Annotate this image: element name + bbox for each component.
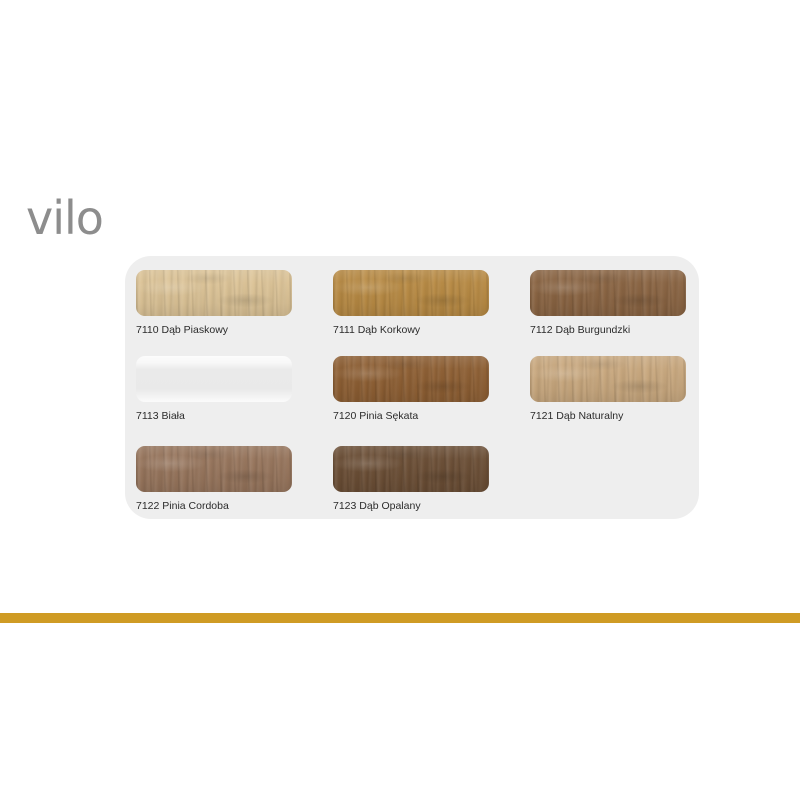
swatch-label: 7121 Dąb Naturalny: [530, 410, 686, 423]
swatch-chip[interactable]: [530, 356, 686, 402]
swatch-chip[interactable]: [333, 446, 489, 492]
swatch-item[interactable]: 7122 Pinia Cordoba: [136, 446, 292, 513]
wood-grain-texture: [136, 446, 292, 492]
swatch-label: 7112 Dąb Burgundzki: [530, 324, 686, 337]
swatch-item[interactable]: 7112 Dąb Burgundzki: [530, 270, 686, 337]
swatch-label: 7122 Pinia Cordoba: [136, 500, 292, 513]
gold-divider-bar: [0, 613, 800, 623]
swatch-chip[interactable]: [333, 270, 489, 316]
swatch-chip[interactable]: [136, 446, 292, 492]
wood-grain-texture: [530, 356, 686, 402]
swatch-item[interactable]: 7121 Dąb Naturalny: [530, 356, 686, 423]
swatch-label: 7123 Dąb Opalany: [333, 500, 489, 513]
swatch-chip[interactable]: [136, 356, 292, 402]
page-root: vilo 7110 Dąb Piaskowy7111 Dąb Korkowy71…: [0, 0, 800, 800]
swatch-item[interactable]: 7113 Biała: [136, 356, 292, 423]
swatch-chip[interactable]: [333, 356, 489, 402]
wood-grain-texture: [333, 270, 489, 316]
swatch-label: 7111 Dąb Korkowy: [333, 324, 489, 337]
wood-grain-texture: [136, 270, 292, 316]
swatch-chip[interactable]: [530, 270, 686, 316]
vilo-logo: vilo: [26, 196, 136, 248]
swatch-label: 7120 Pinia Sękata: [333, 410, 489, 423]
swatch-item[interactable]: 7110 Dąb Piaskowy: [136, 270, 292, 337]
wood-grain-texture: [333, 446, 489, 492]
vilo-logo-text: vilo: [26, 196, 103, 245]
wood-grain-texture: [333, 356, 489, 402]
swatch-item[interactable]: 7120 Pinia Sękata: [333, 356, 489, 423]
vilo-logo-icon: vilo: [26, 196, 136, 248]
swatch-item[interactable]: 7111 Dąb Korkowy: [333, 270, 489, 337]
swatch-label: 7113 Biała: [136, 410, 292, 423]
swatch-label: 7110 Dąb Piaskowy: [136, 324, 292, 337]
swatch-item[interactable]: 7123 Dąb Opalany: [333, 446, 489, 513]
swatch-grid: 7110 Dąb Piaskowy7111 Dąb Korkowy7112 Dą…: [125, 256, 699, 519]
swatch-card: 7110 Dąb Piaskowy7111 Dąb Korkowy7112 Dą…: [125, 256, 699, 519]
wood-grain-texture: [530, 270, 686, 316]
swatch-chip[interactable]: [136, 270, 292, 316]
